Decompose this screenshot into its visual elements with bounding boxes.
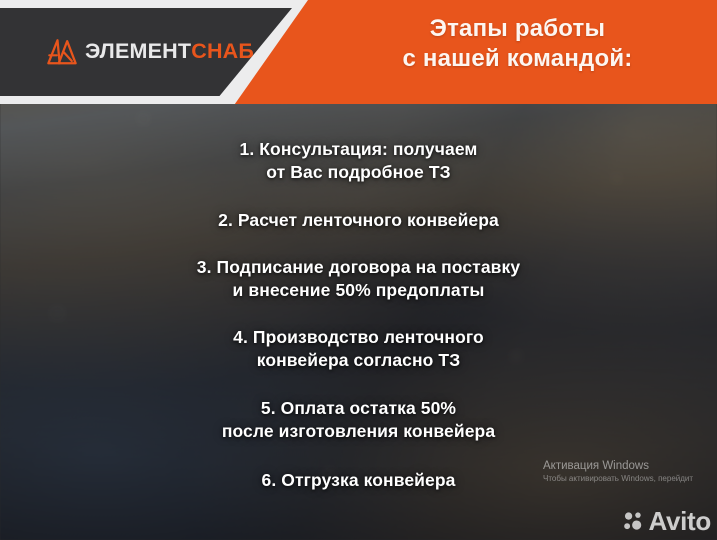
avito-dots-icon [622,510,644,532]
step-6-line-1: 6. Отгрузка конвейера [0,469,717,492]
avito-watermark: Avito [622,508,711,534]
step-5-line-1: 5. Оплата остатка 50% [0,397,717,420]
brand-wordmark: ЭЛЕМЕНТСНАБ [85,41,254,63]
element-snab-triangle-mark-icon [46,37,78,67]
step-item-4: 4. Производство ленточного конвейера сог… [0,326,717,372]
avito-wordmark: Avito [648,508,711,534]
poster-canvas: ЭЛЕМЕНТСНАБ Этапы работы с нашей командо… [0,0,717,540]
brand-logo[interactable]: ЭЛЕМЕНТСНАБ [46,37,254,67]
step-item-5: 5. Оплата остатка 50% после изготовления… [0,397,717,443]
step-item-2: 2. Расчет ленточного конвейера [0,209,717,232]
step-5-line-2: после изготовления конвейера [0,420,717,443]
step-item-3: 3. Подписание договора на поставку и вне… [0,256,717,302]
header-title: Этапы работы с нашей командой: [318,14,717,74]
header-title-line-2: с нашей командой: [318,44,717,74]
brand-wordmark-accent: СНАБ [191,39,254,63]
header-banner: ЭЛЕМЕНТСНАБ Этапы работы с нашей командо… [0,0,717,104]
step-item-1: 1. Консультация: получаем от Вас подробн… [0,138,717,184]
step-1-line-1: 1. Консультация: получаем [0,138,717,161]
step-3-line-2: и внесение 50% предоплаты [0,279,717,302]
header-title-line-1: Этапы работы [318,14,717,44]
step-4-line-1: 4. Производство ленточного [0,326,717,349]
step-2-line-1: 2. Расчет ленточного конвейера [0,209,717,232]
brand-wordmark-light: ЭЛЕМЕНТ [85,39,191,63]
step-4-line-2: конвейера согласно ТЗ [0,349,717,372]
step-item-6: 6. Отгрузка конвейера [0,469,717,492]
steps-list: 1. Консультация: получаем от Вас подробн… [0,104,717,540]
step-3-line-1: 3. Подписание договора на поставку [0,256,717,279]
step-1-line-2: от Вас подробное ТЗ [0,161,717,184]
